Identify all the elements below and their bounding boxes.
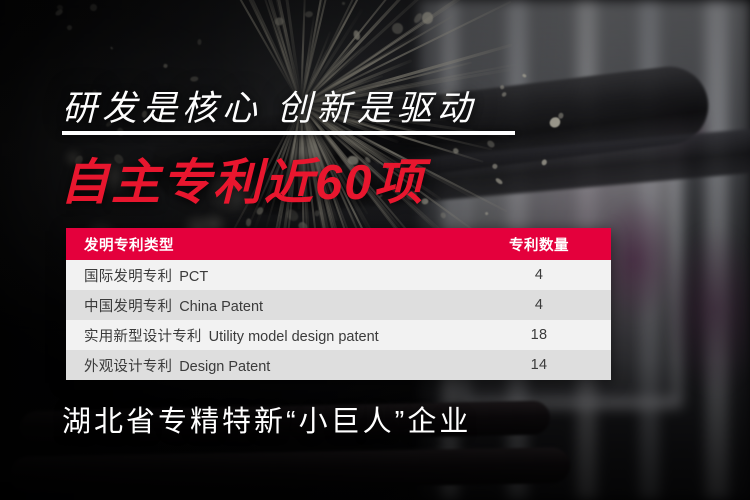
cell-patent-type: 国际发明专利PCT (66, 265, 471, 286)
poster-content: 研发是核心 创新是驱动 自主专利近60项 发明专利类型 专利数量 国际发明专利P… (0, 0, 750, 500)
cell-patent-type: 外观设计专利Design Patent (66, 355, 471, 376)
cell-patent-type: 实用新型设计专利Utility model design patent (66, 325, 471, 346)
patent-table: 发明专利类型 专利数量 国际发明专利PCT4中国发明专利China Patent… (66, 228, 611, 380)
headline-divider-rule (62, 131, 515, 135)
cell-patent-count: 4 (471, 297, 611, 313)
column-header-type: 发明专利类型 (66, 234, 471, 255)
footer-caption: 湖北省专精特新“小巨人”企业 (62, 398, 471, 440)
patent-type-chinese: 国际发明专利 (84, 269, 172, 285)
cell-patent-count: 14 (471, 357, 611, 373)
column-header-count: 专利数量 (471, 234, 611, 255)
table-row: 国际发明专利PCT4 (66, 260, 611, 290)
headline-accent: 自主专利近60项 (60, 143, 425, 214)
patent-achievement-poster: 研发是核心 创新是驱动 自主专利近60项 发明专利类型 专利数量 国际发明专利P… (0, 0, 750, 500)
headline-primary: 研发是核心 创新是驱动 (62, 80, 477, 131)
table-row: 实用新型设计专利Utility model design patent18 (66, 320, 611, 350)
cell-patent-type: 中国发明专利China Patent (66, 295, 471, 316)
table-row: 中国发明专利China Patent4 (66, 290, 611, 320)
patent-type-chinese: 外观设计专利 (84, 359, 172, 375)
patent-type-chinese: 实用新型设计专利 (84, 329, 202, 345)
cell-patent-count: 18 (471, 327, 611, 343)
cell-patent-count: 4 (471, 267, 611, 283)
patent-type-english: Design Patent (179, 359, 270, 375)
patent-type-english: Utility model design patent (209, 329, 379, 345)
patent-type-english: PCT (179, 269, 208, 285)
patent-type-chinese: 中国发明专利 (84, 299, 172, 315)
patent-table-body: 国际发明专利PCT4中国发明专利China Patent4实用新型设计专利Uti… (66, 260, 611, 380)
patent-table-header-row: 发明专利类型 专利数量 (66, 228, 611, 260)
patent-type-english: China Patent (179, 299, 263, 315)
table-row: 外观设计专利Design Patent14 (66, 350, 611, 380)
